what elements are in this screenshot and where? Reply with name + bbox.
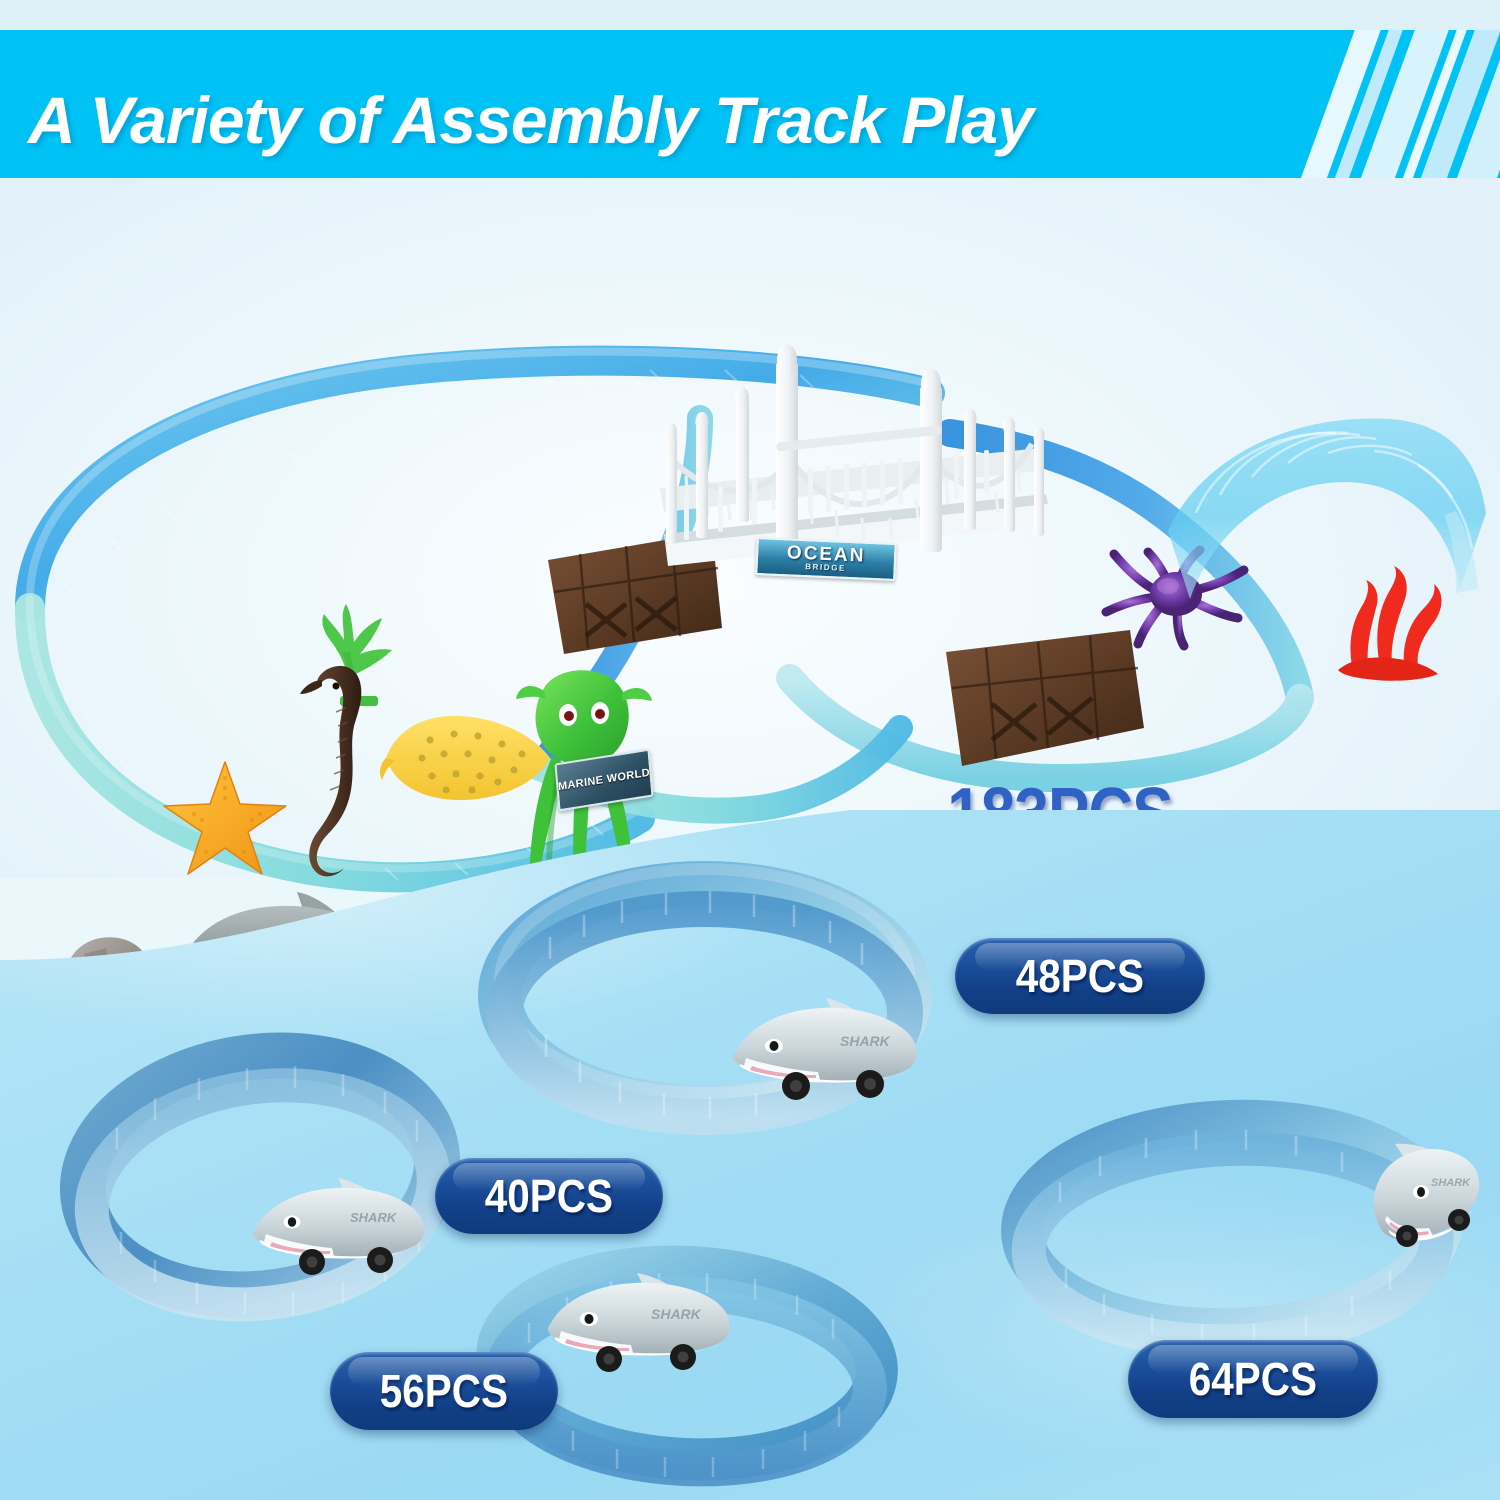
badge-40pcs-label: 40PCS bbox=[485, 1169, 613, 1223]
car-brand-text-48: SHARK bbox=[840, 1033, 891, 1049]
top-strip bbox=[0, 0, 1500, 30]
badge-40pcs: 40PCS bbox=[435, 1158, 663, 1234]
shark-car-48pcs: SHARK bbox=[730, 990, 920, 1105]
shark-car-56pcs: SHARK bbox=[545, 1265, 735, 1375]
suspension-bridge bbox=[640, 338, 1060, 638]
header-banner: A Variety of Assembly Track Play bbox=[0, 30, 1500, 178]
badge-48pcs: 48PCS bbox=[955, 938, 1205, 1014]
assembled-track-scene: MARINE WORLD bbox=[0, 178, 1500, 878]
badge-64pcs-label: 64PCS bbox=[1189, 1352, 1317, 1406]
shark-car-64pcs: SHARK bbox=[1355, 1140, 1500, 1250]
car-brand-text-40: SHARK bbox=[350, 1210, 398, 1225]
badge-64pcs: 64PCS bbox=[1128, 1340, 1378, 1418]
starfish bbox=[160, 756, 290, 876]
car-brand-text-64: SHARK bbox=[1431, 1177, 1471, 1189]
page-title: A Variety of Assembly Track Play bbox=[28, 82, 1033, 158]
marine-world-sign-text: MARINE WORLD bbox=[558, 767, 651, 794]
translucent-tunnel bbox=[1160, 403, 1490, 618]
product-infographic: A Variety of Assembly Track Play bbox=[0, 0, 1500, 1500]
badge-56pcs-label: 56PCS bbox=[380, 1364, 508, 1418]
bridge-stone-pillar-right bbox=[940, 618, 1150, 773]
ocean-bridge-sign: OCEAN BRIDGE bbox=[755, 537, 897, 581]
ocean-bridge-sign-subtitle: BRIDGE bbox=[805, 563, 846, 573]
car-brand-text-56: SHARK bbox=[651, 1306, 702, 1322]
shark-car-40pcs: SHARK bbox=[250, 1170, 425, 1280]
badge-48pcs-label: 48PCS bbox=[1016, 949, 1144, 1003]
seahorse bbox=[292, 656, 384, 886]
badge-56pcs: 56PCS bbox=[330, 1352, 558, 1430]
